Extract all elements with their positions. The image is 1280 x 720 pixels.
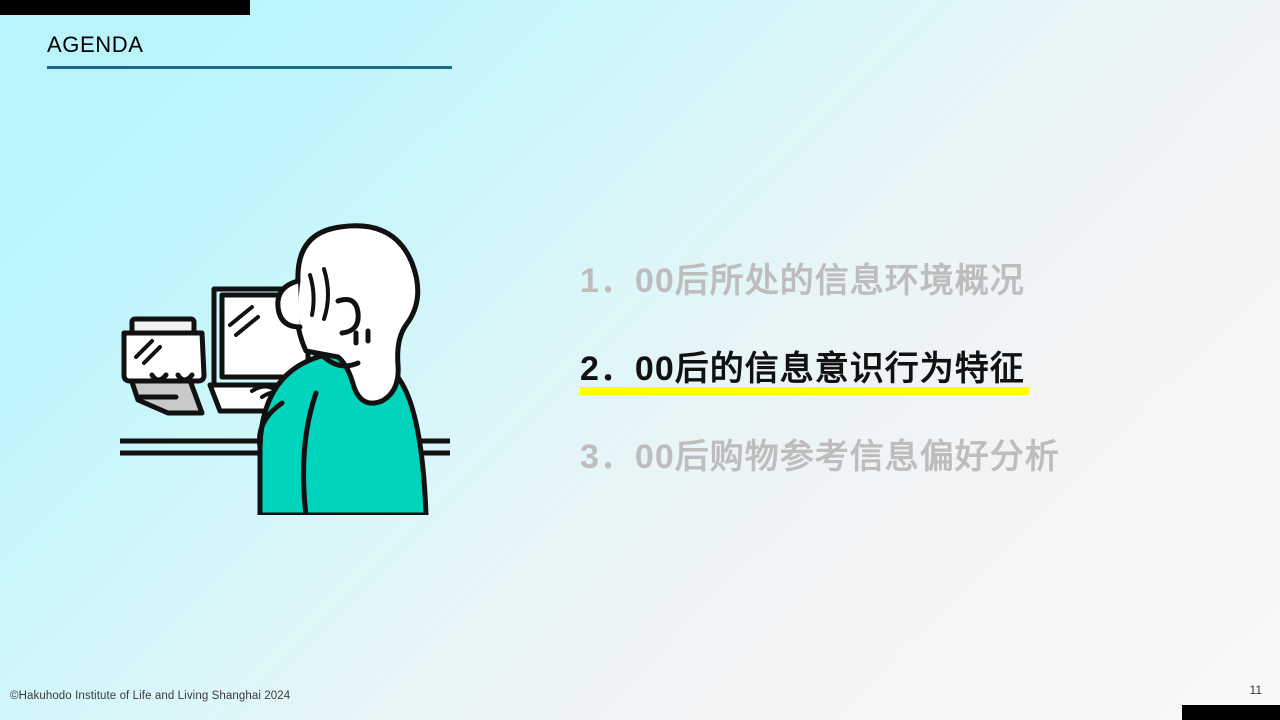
slide-header: AGENDA [47,30,453,69]
decor-bar-top-left [0,0,250,15]
decor-bar-bottom-right [1182,705,1280,720]
agenda-item-2-label: 00后的信息意识行为特征 [635,350,1025,388]
agenda-item-2-highlight: 2．00后的信息意识行为特征 [580,343,1029,395]
agenda-item-2[interactable]: 2．00后的信息意识行为特征 [580,343,1200,395]
agenda-item-3[interactable]: 3．00后购物参考信息偏好分析 [580,431,1200,483]
agenda-item-3-number: 3． [580,438,635,476]
person-at-laptop-illustration [110,215,470,515]
agenda-list: 1．00后所处的信息环境概况 2．00后的信息意识行为特征 3．00后购物参考信… [580,255,1200,483]
agenda-item-3-label: 00后购物参考信息偏好分析 [635,438,1060,476]
agenda-item-1[interactable]: 1．00后所处的信息环境概况 [580,255,1200,307]
header-divider [47,66,452,69]
slide-canvas: AGENDA [0,0,1280,720]
agenda-item-1-label: 00后所处的信息环境概况 [635,262,1025,300]
copyright-notice: ©Hakuhodo Institute of Life and Living S… [10,690,290,702]
agenda-item-2-number: 2． [580,350,635,388]
page-title: AGENDA [47,30,453,60]
agenda-item-1-number: 1． [580,262,635,300]
page-number: 11 [1250,683,1262,697]
